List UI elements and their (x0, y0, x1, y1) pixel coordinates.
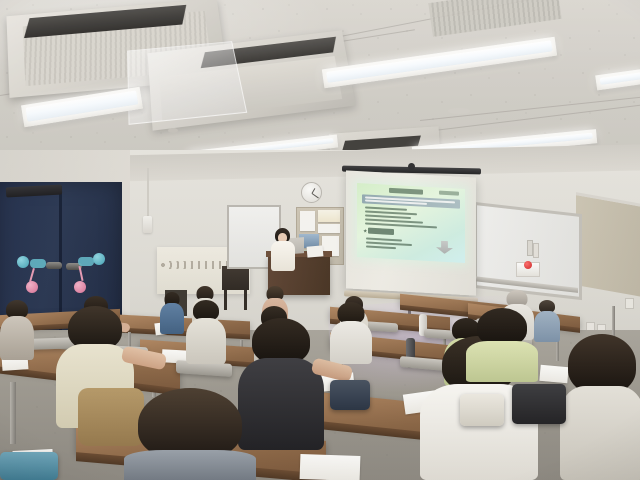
poster (318, 210, 340, 222)
whiteboard-marker[interactable] (533, 243, 539, 258)
floor-tote-bag[interactable] (460, 394, 504, 426)
presenter (270, 228, 296, 270)
table-leg (10, 382, 16, 444)
slide-section-header (368, 228, 394, 235)
door-sticker-teal-right (93, 253, 105, 265)
attendee-foreground (560, 334, 640, 480)
red-magnet-icon[interactable] (524, 261, 532, 269)
door-sticker-label-left (30, 259, 46, 268)
pull-cord (147, 168, 149, 220)
wall-clock (301, 182, 322, 203)
attendee (466, 308, 538, 382)
attendee (186, 300, 226, 364)
classroom-photo: ★ (0, 0, 640, 480)
power-outlet[interactable] (625, 298, 634, 309)
floor-bag[interactable] (330, 380, 370, 410)
handout-paper[interactable] (300, 454, 361, 480)
door-sticker-pink-left (26, 281, 38, 293)
screen-pull-knob[interactable] (408, 163, 415, 170)
presenter-handout (307, 245, 324, 257)
ceiling-speaker-icon (448, 108, 470, 114)
floor-bag[interactable] (0, 452, 58, 480)
attendee-foreground (124, 388, 256, 480)
attendee (330, 302, 372, 364)
slide-down-arrow-icon (436, 240, 453, 254)
poster (300, 211, 315, 231)
screen-surface: ★ (346, 170, 476, 295)
door-sticker-teal-left (17, 256, 29, 268)
floor-bag[interactable] (512, 384, 566, 424)
attendee (0, 300, 34, 360)
smoke-detector-icon (168, 128, 178, 133)
door-sticker-pink-right (74, 281, 86, 293)
presentation-slide: ★ (357, 183, 465, 263)
door-sticker-label-right (78, 257, 94, 266)
rear-wooden-chair[interactable] (222, 266, 249, 310)
air-deflector-panel (127, 41, 247, 125)
poster (318, 224, 340, 233)
pull-cord-switch[interactable] (143, 216, 152, 233)
attendee (160, 292, 184, 334)
slide-section-star-icon: ★ (363, 229, 367, 234)
door-handle-left[interactable] (46, 262, 62, 269)
bulletin-board-right (576, 192, 640, 297)
tripod-projection-screen: ★ (346, 172, 476, 300)
